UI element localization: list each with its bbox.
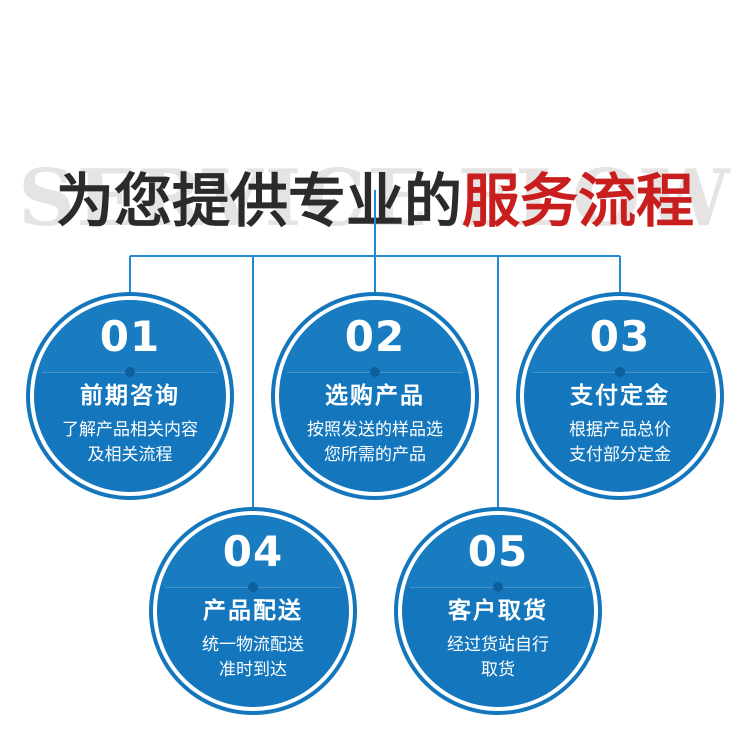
step-description-line-2: 支付部分定金 <box>524 443 716 468</box>
node-center-dot <box>493 582 503 592</box>
step-description: 根据产品总价 支付部分定金 <box>524 418 716 467</box>
service-flow-infographic: SERVICE FLOW 为您提供专业的服务流程 01 前期咨询 了解产品相关内… <box>0 0 750 750</box>
step-description: 了解产品相关内容 及相关流程 <box>34 418 226 467</box>
node-center-dot <box>125 367 135 377</box>
step-description-line-1: 统一物流配送 <box>157 633 349 658</box>
node-center-dot <box>248 582 258 592</box>
step-title: 支付定金 <box>524 384 716 409</box>
page-title: 为您提供专业的服务流程 <box>0 172 750 230</box>
step-node-01[interactable]: 01 前期咨询 了解产品相关内容 及相关流程 <box>34 300 226 492</box>
step-description-line-2: 取货 <box>402 658 594 683</box>
step-description-line-1: 了解产品相关内容 <box>34 418 226 443</box>
step-node-04[interactable]: 04 产品配送 统一物流配送 准时到达 <box>157 515 349 707</box>
step-number: 05 <box>402 529 594 575</box>
step-title: 选购产品 <box>279 384 471 409</box>
step-description-line-2: 及相关流程 <box>34 443 226 468</box>
step-description: 按照发送的样品选 您所需的产品 <box>279 418 471 467</box>
page-title-accent: 服务流程 <box>462 167 694 235</box>
step-description: 经过货站自行 取货 <box>402 633 594 682</box>
step-description-line-1: 按照发送的样品选 <box>279 418 471 443</box>
page-title-primary: 为您提供专业的 <box>56 167 462 235</box>
step-number: 02 <box>279 314 471 360</box>
step-description-line-2: 您所需的产品 <box>279 443 471 468</box>
step-number: 04 <box>157 529 349 575</box>
header: SERVICE FLOW 为您提供专业的服务流程 <box>0 78 750 188</box>
step-node-03[interactable]: 03 支付定金 根据产品总价 支付部分定金 <box>524 300 716 492</box>
node-center-dot <box>615 367 625 377</box>
step-title: 产品配送 <box>157 599 349 624</box>
node-center-dot <box>370 367 380 377</box>
step-description-line-1: 经过货站自行 <box>402 633 594 658</box>
step-number: 03 <box>524 314 716 360</box>
step-description-line-1: 根据产品总价 <box>524 418 716 443</box>
step-node-05[interactable]: 05 客户取货 经过货站自行 取货 <box>402 515 594 707</box>
step-number: 01 <box>34 314 226 360</box>
step-node-02[interactable]: 02 选购产品 按照发送的样品选 您所需的产品 <box>279 300 471 492</box>
step-title: 客户取货 <box>402 599 594 624</box>
step-description: 统一物流配送 准时到达 <box>157 633 349 682</box>
step-description-line-2: 准时到达 <box>157 658 349 683</box>
step-title: 前期咨询 <box>34 384 226 409</box>
